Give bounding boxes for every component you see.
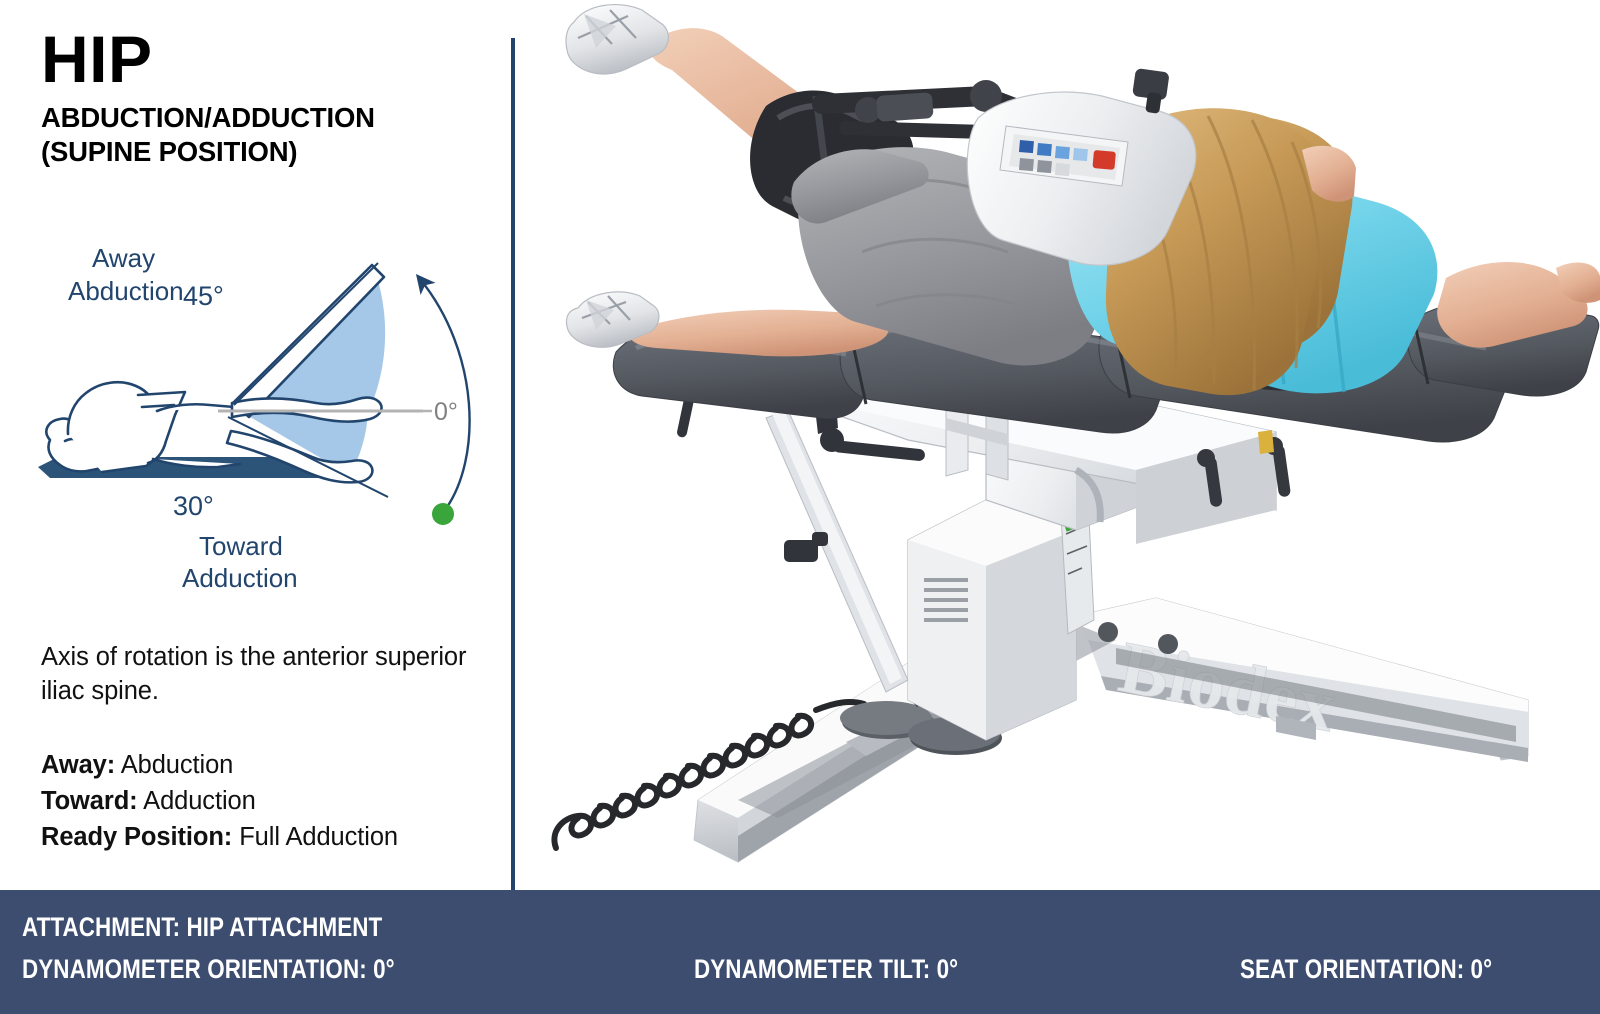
left-info-panel: HIP ABDUCTION/ADDUCTION (SUPINE POSITION… — [0, 0, 512, 890]
direction-ready-label: Ready Position: — [41, 823, 232, 851]
direction-definitions-list: Away: Abduction Toward: Adduction Ready … — [41, 747, 481, 856]
direction-toward: Toward: Adduction — [41, 783, 481, 819]
direction-ready-position: Ready Position: Full Adduction — [41, 819, 481, 855]
direction-toward-value: Adduction — [143, 787, 256, 815]
page-subtitle-line2: (SUPINE POSITION) — [41, 135, 491, 169]
instruction-text-block: Axis of rotation is the anterior superio… — [41, 640, 481, 855]
angle-0-label: 0° — [434, 398, 458, 426]
away-label-line1: Away — [92, 243, 155, 273]
seat-orientation-spec: SEAT ORIENTATION: 0° — [1240, 954, 1492, 985]
toward-label-line1: Toward — [199, 531, 283, 561]
angle-45-label: 45° — [183, 281, 224, 311]
axis-of-rotation-note: Axis of rotation is the anterior superio… — [41, 640, 481, 709]
page-title: HIP — [41, 28, 491, 91]
angle-30-label: 30° — [173, 491, 214, 521]
page-subtitle-line1: ABDUCTION/ADDUCTION — [41, 101, 491, 135]
direction-toward-label: Toward: — [41, 787, 138, 815]
dynamometer-tilt-spec: DYNAMOMETER TILT: 0° — [694, 954, 958, 985]
dynamometer-orientation-spec: DYNAMOMETER ORIENTATION: 0° — [22, 954, 395, 985]
toward-label-line2: Adduction — [182, 563, 298, 593]
panel-divider — [511, 38, 515, 890]
direction-away: Away: Abduction — [41, 747, 481, 783]
attachment-spec: ATTACHMENT: HIP ATTACHMENT — [22, 912, 382, 943]
direction-ready-value: Full Adduction — [239, 823, 398, 851]
direction-away-value: Abduction — [121, 751, 234, 779]
motion-arc-arrow — [420, 279, 470, 510]
range-of-motion-diagram: Away Abduction 45° 0° 30° Toward Adducti… — [20, 235, 490, 600]
ready-position-dot — [432, 503, 454, 525]
title-block: HIP ABDUCTION/ADDUCTION (SUPINE POSITION… — [41, 28, 491, 170]
direction-away-label: Away: — [41, 751, 115, 779]
equipment-photo: Biodex — [516, 0, 1600, 890]
specification-bar: ATTACHMENT: HIP ATTACHMENT DYNAMOMETER O… — [0, 890, 1600, 1014]
away-label-line2: Abduction — [68, 276, 184, 306]
